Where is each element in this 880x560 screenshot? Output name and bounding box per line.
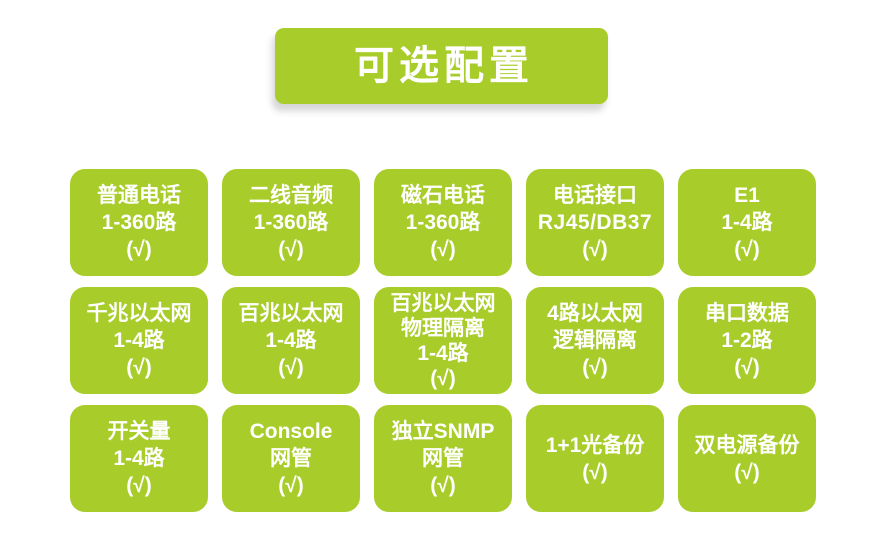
card-title-line: 千兆以太网	[87, 300, 192, 327]
card-detail-line: 网管	[270, 445, 312, 472]
card-text-block: 磁石电话1-360路(√)	[374, 182, 512, 263]
card-title-line: 串口数据	[705, 300, 789, 327]
card-row: 普通电话1-360路(√)二线音频1-360路(√)磁石电话1-360路(√)电…	[70, 169, 812, 276]
card-check-mark: (√)	[126, 354, 152, 381]
card-text-block: E11-4路(√)	[678, 182, 816, 263]
card-detail-line: 1-360路	[406, 209, 481, 236]
card-row: 开关量1-4路(√)Console网管(√)独立SNMP网管(√)1+1光备份(…	[70, 405, 812, 512]
card-title-line: 1+1光备份	[546, 432, 645, 459]
card-check-mark: (√)	[430, 472, 456, 499]
card-row: 千兆以太网1-4路(√)百兆以太网1-4路(√)百兆以太网物理隔离1-4路(√)…	[70, 287, 812, 394]
config-card[interactable]: 开关量1-4路(√)	[70, 405, 208, 512]
card-check-mark: (√)	[582, 354, 608, 381]
card-check-mark: (√)	[278, 236, 304, 263]
header-banner-area: 可选配置	[0, 0, 880, 132]
config-card[interactable]: 百兆以太网物理隔离1-4路(√)	[374, 287, 512, 394]
card-text-block: 开关量1-4路(√)	[70, 418, 208, 499]
card-text-block: 千兆以太网1-4路(√)	[70, 300, 208, 381]
page-title: 可选配置	[349, 46, 534, 86]
config-card[interactable]: 双电源备份(√)	[678, 405, 816, 512]
config-card[interactable]: 百兆以太网1-4路(√)	[222, 287, 360, 394]
card-check-mark: (√)	[734, 459, 760, 486]
card-title-line: 双电源备份	[695, 432, 800, 459]
card-detail-line: 1-4路	[113, 327, 164, 354]
card-detail-line: 物理隔离	[401, 316, 485, 341]
config-card[interactable]: 普通电话1-360路(√)	[70, 169, 208, 276]
card-check-mark: (√)	[430, 366, 456, 391]
config-card[interactable]: Console网管(√)	[222, 405, 360, 512]
config-card[interactable]: 1+1光备份(√)	[526, 405, 664, 512]
card-check-mark: (√)	[582, 459, 608, 486]
card-text-block: 普通电话1-360路(√)	[70, 182, 208, 263]
header-banner: 可选配置	[275, 28, 608, 104]
config-card[interactable]: 独立SNMP网管(√)	[374, 405, 512, 512]
card-detail-line: 逻辑隔离	[553, 327, 637, 354]
card-text-block: 1+1光备份(√)	[526, 432, 664, 486]
card-text-block: 双电源备份(√)	[678, 432, 816, 486]
card-check-mark: (√)	[582, 236, 608, 263]
card-title-line: 4路以太网	[547, 300, 643, 327]
card-title-line: 百兆以太网	[391, 291, 496, 316]
card-title-line: 磁石电话	[401, 182, 485, 209]
card-title-line: 电话接口	[553, 182, 637, 209]
card-detail-line: 1-4路	[265, 327, 316, 354]
card-title-line: 普通电话	[97, 182, 181, 209]
config-card[interactable]: 二线音频1-360路(√)	[222, 169, 360, 276]
card-check-mark: (√)	[278, 472, 304, 499]
card-detail-line: 1-4路	[113, 445, 164, 472]
card-detail-line: 1-4路	[721, 209, 772, 236]
card-title-line: 独立SNMP	[392, 418, 495, 445]
card-detail-line: 网管	[422, 445, 464, 472]
card-text-block: 百兆以太网物理隔离1-4路(√)	[374, 291, 512, 391]
card-check-mark: (√)	[734, 236, 760, 263]
card-check-mark: (√)	[278, 354, 304, 381]
config-card[interactable]: 千兆以太网1-4路(√)	[70, 287, 208, 394]
config-card[interactable]: 4路以太网逻辑隔离(√)	[526, 287, 664, 394]
card-text-block: 电话接口RJ45/DB37(√)	[526, 182, 664, 263]
card-text-block: 百兆以太网1-4路(√)	[222, 300, 360, 381]
card-text-block: 二线音频1-360路(√)	[222, 182, 360, 263]
config-card[interactable]: 电话接口RJ45/DB37(√)	[526, 169, 664, 276]
card-detail-line: RJ45/DB37	[538, 209, 652, 236]
card-detail-line: 1-2路	[721, 327, 772, 354]
card-text-block: Console网管(√)	[222, 418, 360, 499]
card-title-line: 百兆以太网	[239, 300, 344, 327]
card-detail-line: 1-4路	[417, 341, 468, 366]
card-detail-line: 1-360路	[254, 209, 329, 236]
card-text-block: 串口数据1-2路(√)	[678, 300, 816, 381]
config-card[interactable]: E11-4路(√)	[678, 169, 816, 276]
config-card[interactable]: 磁石电话1-360路(√)	[374, 169, 512, 276]
card-detail-line: 1-360路	[102, 209, 177, 236]
card-title-line: 开关量	[108, 418, 171, 445]
card-check-mark: (√)	[734, 354, 760, 381]
config-card-grid: 普通电话1-360路(√)二线音频1-360路(√)磁石电话1-360路(√)电…	[70, 169, 812, 512]
card-text-block: 独立SNMP网管(√)	[374, 418, 512, 499]
card-title-line: Console	[250, 418, 333, 445]
card-check-mark: (√)	[126, 236, 152, 263]
card-title-line: 二线音频	[249, 182, 333, 209]
config-card[interactable]: 串口数据1-2路(√)	[678, 287, 816, 394]
card-check-mark: (√)	[430, 236, 456, 263]
card-title-line: E1	[734, 182, 760, 209]
card-check-mark: (√)	[126, 472, 152, 499]
card-text-block: 4路以太网逻辑隔离(√)	[526, 300, 664, 381]
